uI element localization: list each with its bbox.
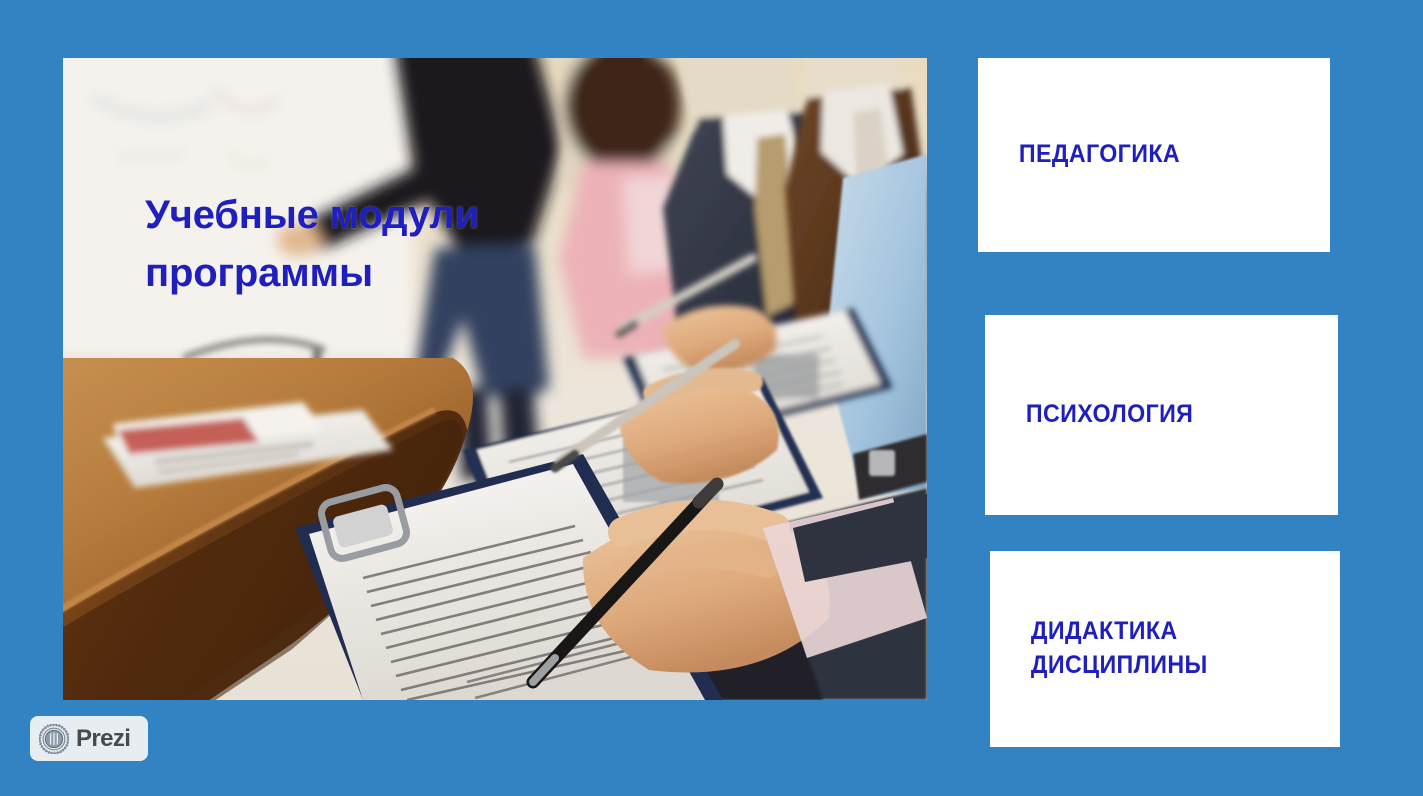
module-card-label: ПСИХОЛОГИЯ xyxy=(985,398,1193,432)
module-card-label: ПЕДАГОГИКА xyxy=(978,138,1180,172)
module-card-label: ДИДАКТИКА ДИСЦИПЛИНЫ xyxy=(990,615,1208,683)
prezi-logo-icon xyxy=(39,724,69,754)
prezi-badge[interactable]: Prezi xyxy=(30,716,148,761)
presentation-slide: Учебные модули программы ПЕДАГОГИКА ПСИХ… xyxy=(0,0,1423,796)
module-card-psihologiya[interactable]: ПСИХОЛОГИЯ xyxy=(985,315,1338,515)
module-card-pedagogika[interactable]: ПЕДАГОГИКА xyxy=(978,58,1330,252)
prezi-wordmark: Prezi xyxy=(76,725,130,753)
seminar-photo-illustration xyxy=(63,58,927,700)
module-card-didaktika-discipliny[interactable]: ДИДАКТИКА ДИСЦИПЛИНЫ xyxy=(990,551,1340,747)
page-title: Учебные модули программы xyxy=(145,186,565,302)
slide-photo: Учебные модули программы xyxy=(63,58,927,700)
